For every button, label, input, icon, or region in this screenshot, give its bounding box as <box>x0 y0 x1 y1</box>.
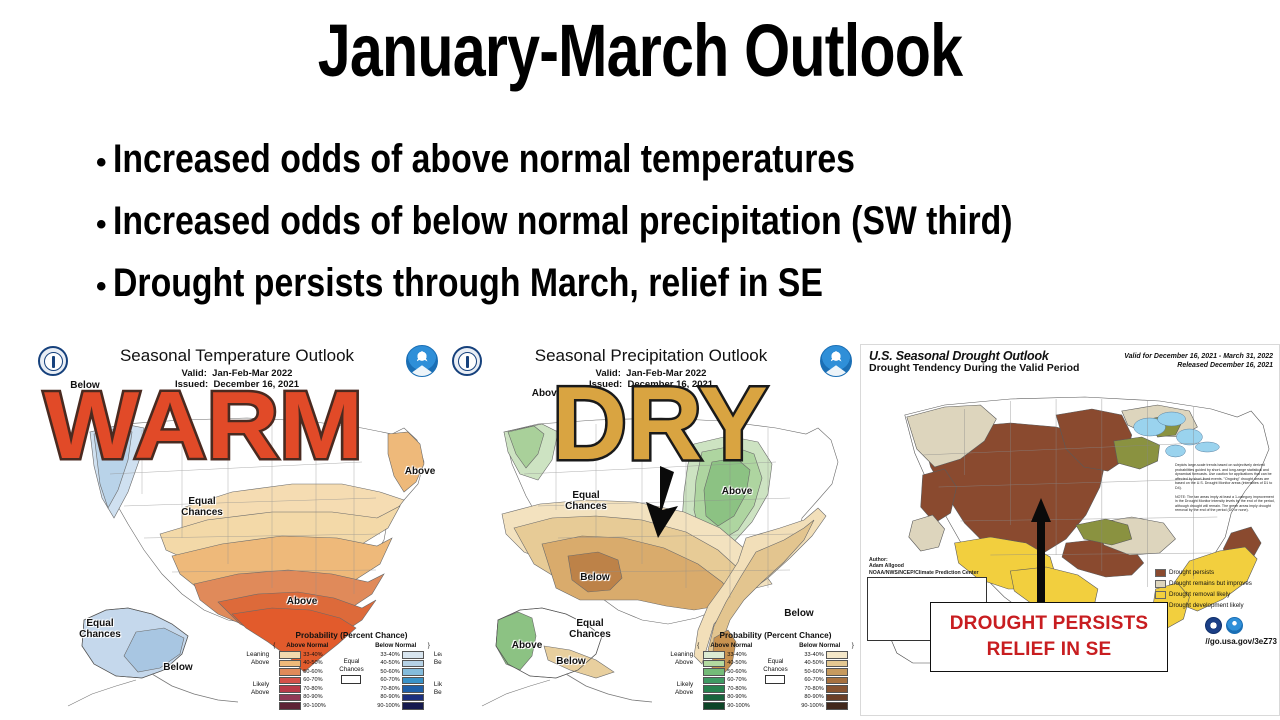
legend-step-label: 40-50% <box>303 660 335 666</box>
legend-row: 40-50% <box>279 659 335 668</box>
legend-swatch <box>279 651 301 659</box>
drought-callout-box: DROUGHT PERSISTS RELIEF IN SE <box>930 602 1168 672</box>
legend-swatch <box>703 677 725 685</box>
legend-step-label: 80-90% <box>727 694 759 700</box>
legend-below-header: Below Normal <box>792 642 848 649</box>
legend-below-column: Below Normal 33-40%40-50%50-60%60-70%70-… <box>368 642 424 710</box>
legend-row: 40-50% <box>368 659 424 668</box>
legend-below-header: Below Normal <box>368 642 424 649</box>
callout-line-1: DROUGHT PERSISTS <box>950 611 1149 637</box>
legend-row: 90-100% <box>792 702 848 711</box>
legend-swatch <box>279 694 301 702</box>
legend-equal-chances: EqualChances <box>763 642 787 684</box>
legend-step-label: 50-60% <box>792 669 824 675</box>
legend-brace-left: { <box>273 642 275 649</box>
drought-legend-swatch <box>1155 591 1166 599</box>
legend-likely-above: LikelyAbove <box>244 667 269 697</box>
legend-row: 50-60% <box>792 668 848 677</box>
legend-swatch <box>826 660 848 668</box>
legend-row: 70-80% <box>368 685 424 694</box>
up-arrow-icon <box>1030 498 1052 606</box>
legend-step-label: 33-40% <box>727 652 759 658</box>
bullet-list: • Increased odds of above normal tempera… <box>96 128 1236 314</box>
legend-row: 50-60% <box>703 668 759 677</box>
drought-legend-row: Drought development likely <box>1155 600 1275 611</box>
bullet-item: • Increased odds of above normal tempera… <box>96 128 1236 190</box>
legend-row: 80-90% <box>279 693 335 702</box>
page-title: January-March Outlook <box>128 8 1152 94</box>
nws-logo-icon <box>1205 617 1222 634</box>
legend-likely-above: LikelyAbove <box>668 667 693 697</box>
legend-step-label: 70-80% <box>792 686 824 692</box>
temp-map-title: Seasonal Temperature Outlook <box>32 346 442 366</box>
legend-step-label: 60-70% <box>727 677 759 683</box>
legend-row: 33-40% <box>368 651 424 660</box>
drought-agency-logos <box>1205 617 1243 634</box>
drought-legend-label: Drought development likely <box>1169 602 1244 609</box>
temperature-legend: Probability (Percent Chance) LeaningAbov… <box>244 631 442 710</box>
legend-swatch <box>826 668 848 676</box>
legend-step-label: 80-90% <box>303 694 335 700</box>
legend-swatch <box>402 702 424 710</box>
legend-title: Probability (Percent Chance) <box>668 631 856 640</box>
legend-step-label: 70-80% <box>368 686 400 692</box>
legend-swatch <box>402 668 424 676</box>
bullet-text: Increased odds of above normal temperatu… <box>113 128 855 190</box>
legend-row: 33-40% <box>792 651 848 660</box>
legend-row: 90-100% <box>703 702 759 711</box>
legend-swatch <box>826 677 848 685</box>
legend-row: 60-70% <box>792 676 848 685</box>
bullet-item: • Drought persists through March, relief… <box>96 252 1236 314</box>
drought-valid-for: Valid for December 16, 2021 - March 31, … <box>1124 352 1273 361</box>
legend-title: Probability (Percent Chance) <box>244 631 442 640</box>
legend-swatch <box>402 651 424 659</box>
legend-step-label: 50-60% <box>368 669 400 675</box>
drought-author-block: Author: Adam Allgood NOAA/NWS/NCEP/Clima… <box>869 557 979 576</box>
drought-map-heading: U.S. Seasonal Drought Outlook Drought Te… <box>869 349 1079 374</box>
drought-legend: Drought persistsDrought remains but impr… <box>1155 567 1275 611</box>
legend-swatch <box>402 660 424 668</box>
drought-legend-swatch <box>1155 580 1166 588</box>
legend-swatch <box>826 685 848 693</box>
legend-swatch <box>279 660 301 668</box>
legend-row: 60-70% <box>279 676 335 685</box>
precip-map-title: Seasonal Precipitation Outlook <box>446 346 856 366</box>
legend-brace-left: { <box>697 642 699 649</box>
legend-step-label: 90-100% <box>727 703 759 709</box>
slide-root: January-March Outlook • Increased odds o… <box>0 0 1280 720</box>
noaa-logo-icon <box>820 345 852 377</box>
legend-swatch <box>703 702 725 710</box>
legend-step-label: 70-80% <box>727 686 759 692</box>
drought-url-text[interactable]: //go.usa.gov/3eZ73 <box>1205 637 1277 646</box>
legend-step-label: 40-50% <box>792 660 824 666</box>
legend-step-label: 50-60% <box>303 669 335 675</box>
legend-row: 70-80% <box>792 685 848 694</box>
legend-row: 90-100% <box>368 702 424 711</box>
legend-above-column: Above Normal 33-40%40-50%50-60%60-70%70-… <box>703 642 759 710</box>
drought-note-1: Depicts large-scale trends based on subj… <box>1175 463 1275 491</box>
legend-row: 80-90% <box>792 693 848 702</box>
legend-step-label: 40-50% <box>727 660 759 666</box>
bullet-text: Increased odds of below normal precipita… <box>113 190 1013 252</box>
legend-step-label: 90-100% <box>368 703 400 709</box>
drought-legend-row: Drought persists <box>1155 567 1275 578</box>
warm-overlay-text: WARM <box>44 378 363 474</box>
legend-step-label: 40-50% <box>368 660 400 666</box>
legend-swatch <box>703 651 725 659</box>
legend-above-header: Above Normal <box>703 642 759 649</box>
legend-swatch <box>402 685 424 693</box>
legend-row: 33-40% <box>279 651 335 660</box>
noaa-logo-icon <box>1226 617 1243 634</box>
bullet-item: • Increased odds of below normal precipi… <box>96 190 1236 252</box>
drought-legend-label: Drought removal likely <box>1169 591 1230 598</box>
drought-note-2: NOTE: The tan areas imply at least a 1-c… <box>1175 495 1275 513</box>
legend-step-label: 60-70% <box>303 677 335 683</box>
legend-row: 70-80% <box>279 685 335 694</box>
legend-step-label: 33-40% <box>792 652 824 658</box>
legend-row: 80-90% <box>368 693 424 702</box>
legend-step-label: 70-80% <box>303 686 335 692</box>
drought-released: Released December 16, 2021 <box>1124 361 1273 370</box>
legend-step-label: 80-90% <box>792 694 824 700</box>
precipitation-legend: Probability (Percent Chance) LeaningAbov… <box>668 631 856 710</box>
bullet-text: Drought persists through March, relief i… <box>113 252 823 314</box>
legend-swatch <box>703 694 725 702</box>
bullet-dot: • <box>96 210 107 240</box>
author-org: NOAA/NWS/NCEP/Climate Prediction Center <box>869 570 979 576</box>
legend-swatch <box>279 668 301 676</box>
drought-legend-label: Drought persists <box>1169 569 1214 576</box>
legend-row: 40-50% <box>792 659 848 668</box>
legend-row: 60-70% <box>703 676 759 685</box>
drought-map-dates: Valid for December 16, 2021 - March 31, … <box>1124 352 1273 370</box>
drought-map-title: U.S. Seasonal Drought Outlook <box>869 349 1079 363</box>
legend-row: 60-70% <box>368 676 424 685</box>
legend-likely-below: LikelyBelow <box>434 667 442 697</box>
drought-legend-swatch <box>1155 569 1166 577</box>
drought-note-text: Depicts large-scale trends based on subj… <box>1175 463 1275 517</box>
legend-equal-swatch <box>765 675 785 684</box>
legend-swatch <box>279 677 301 685</box>
legend-swatch <box>402 677 424 685</box>
legend-row: 40-50% <box>703 659 759 668</box>
legend-brace-right: } <box>428 642 430 649</box>
drought-legend-row: Drought removal likely <box>1155 589 1275 600</box>
legend-step-label: 33-40% <box>368 652 400 658</box>
legend-step-label: 90-100% <box>303 703 335 709</box>
legend-step-label: 80-90% <box>368 694 400 700</box>
legend-leaning-above: LeaningAbove <box>668 642 693 667</box>
legend-equal-swatch <box>341 675 361 684</box>
legend-swatch <box>703 660 725 668</box>
callout-line-2: RELIEF IN SE <box>987 637 1112 663</box>
legend-step-label: 50-60% <box>727 669 759 675</box>
legend-swatch <box>402 694 424 702</box>
legend-leaning-above: LeaningAbove <box>244 642 269 667</box>
legend-row: 70-80% <box>703 685 759 694</box>
legend-row: 90-100% <box>279 702 335 711</box>
legend-side-labels-left: LeaningAbove LikelyAbove <box>244 642 269 697</box>
legend-swatch <box>826 651 848 659</box>
dry-overlay-text: DRY <box>552 372 768 476</box>
legend-step-label: 60-70% <box>368 677 400 683</box>
drought-legend-row: Drought remains but improves <box>1155 578 1275 589</box>
bullet-dot: • <box>96 272 107 302</box>
legend-swatch <box>703 685 725 693</box>
legend-step-label: 33-40% <box>303 652 335 658</box>
legend-step-label: 90-100% <box>792 703 824 709</box>
noaa-logo-icon <box>406 345 438 377</box>
legend-equal-chances: EqualChances <box>339 642 363 684</box>
legend-side-labels-right: LeaningBelow LikelyBelow <box>434 642 442 697</box>
down-arrow-icon <box>644 466 690 538</box>
legend-row: 50-60% <box>279 668 335 677</box>
legend-above-header: Above Normal <box>279 642 335 649</box>
legend-swatch <box>279 702 301 710</box>
legend-row: 50-60% <box>368 668 424 677</box>
legend-row: 80-90% <box>703 693 759 702</box>
legend-above-column: Above Normal 33-40%40-50%50-60%60-70%70-… <box>279 642 335 710</box>
legend-swatch <box>826 702 848 710</box>
legend-step-label: 60-70% <box>792 677 824 683</box>
legend-swatch <box>279 685 301 693</box>
legend-side-labels-left: LeaningAbove LikelyAbove <box>668 642 693 697</box>
drought-legend-label: Drought remains but improves <box>1169 580 1252 587</box>
legend-row: 33-40% <box>703 651 759 660</box>
legend-leaning-below: LeaningBelow <box>434 642 442 667</box>
drought-map-subtitle: Drought Tendency During the Valid Period <box>869 362 1079 374</box>
legend-below-column: Below Normal 33-40%40-50%50-60%60-70%70-… <box>792 642 848 710</box>
legend-swatch <box>826 694 848 702</box>
legend-brace-right: } <box>852 642 854 649</box>
bullet-dot: • <box>96 148 107 178</box>
legend-swatch <box>703 668 725 676</box>
